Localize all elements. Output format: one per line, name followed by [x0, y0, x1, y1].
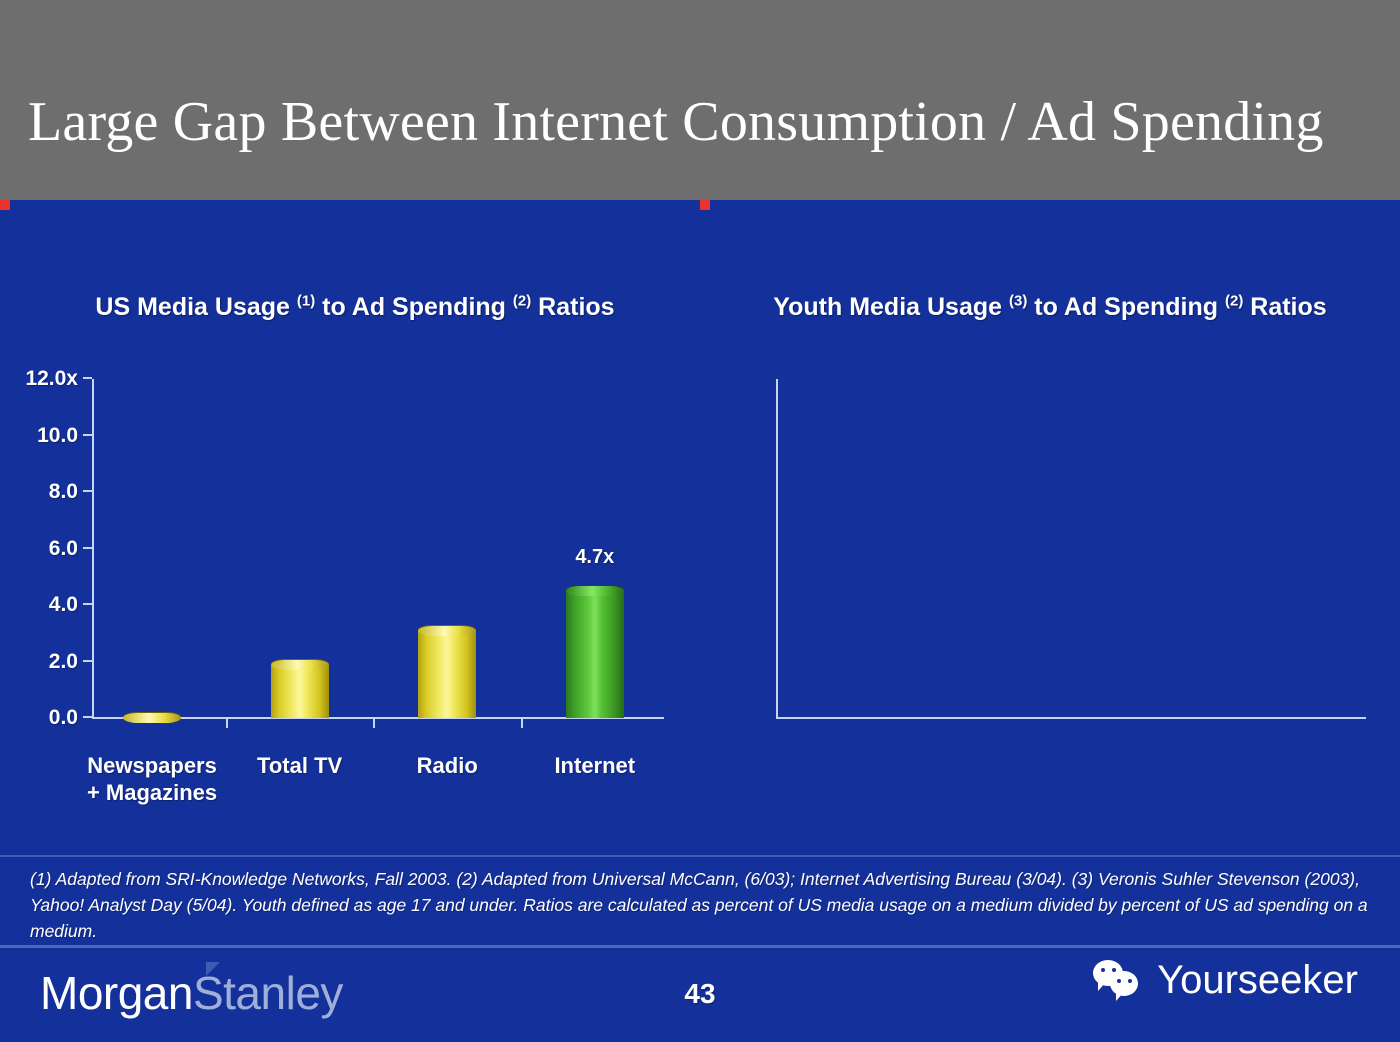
chart-title-youth-media-usage: Youth Media Usage (3) to Ad Spending (2)…	[700, 288, 1400, 326]
bar-top-ellipse	[123, 712, 181, 723]
bubble-front	[1110, 971, 1138, 996]
chart-title-text: Youth Media Usage	[773, 293, 1009, 321]
y-axis-line	[92, 379, 94, 718]
chart-panel-youth-media-usage: Youth Media Usage (3) to Ad Spending (2)…	[700, 200, 1400, 820]
bar-value-label: 4.7x	[575, 546, 614, 569]
footnote-ref-3: (3)	[1009, 293, 1027, 310]
chart-title-text: Ratios	[1243, 293, 1326, 321]
label-line: Total TV	[257, 752, 342, 779]
bar-body	[566, 590, 624, 718]
x-axis-category-label: Total TV	[257, 752, 342, 779]
y-axis-tick	[83, 377, 92, 379]
y-axis-tick	[83, 660, 92, 662]
bar-top-ellipse	[271, 659, 329, 670]
footnote-ref-1: (1)	[297, 293, 315, 310]
bar-internet	[566, 585, 624, 718]
y-axis-tick	[83, 547, 92, 549]
chart-panel-us-media-usage: US Media Usage (1) to Ad Spending (2) Ra…	[0, 200, 700, 820]
y-axis-tick	[83, 603, 92, 605]
bar-total-tv	[271, 659, 329, 718]
slide: Large Gap Between Internet Consumption /…	[0, 0, 1400, 1042]
chart-title-text: US Media Usage	[95, 293, 296, 321]
label-line: Internet	[554, 752, 635, 779]
y-axis-tick-label: 4.0	[49, 593, 78, 617]
x-axis-category-label: Internet	[554, 752, 635, 779]
bar-top-ellipse	[566, 585, 624, 596]
footnote-ref-2: (2)	[1225, 293, 1243, 310]
label-line: + Magazines	[87, 779, 217, 806]
x-axis-category-label: Radio	[417, 752, 478, 779]
watermark: Yourseeker	[1093, 958, 1358, 1002]
bubble-back-tail	[1098, 982, 1106, 991]
slide-footer: MorganStanley 43 Yourseeker	[0, 948, 1400, 1042]
y-axis-tick-label: 6.0	[49, 537, 78, 561]
bar-radio	[418, 625, 476, 718]
bar-top-ellipse	[418, 625, 476, 636]
bubble-front-tail	[1116, 992, 1124, 1001]
y-axis-tick-label: 0.0	[49, 706, 78, 730]
footnote-text: (1) Adapted from SRI-Knowledge Networks,…	[30, 866, 1370, 944]
plot-area-youth-media-usage	[776, 379, 1366, 718]
y-axis-tick-label: 8.0	[49, 480, 78, 504]
x-axis-tick	[521, 718, 523, 728]
label-line: Radio	[417, 752, 478, 779]
header-band: Large Gap Between Internet Consumption /…	[0, 0, 1400, 200]
footnote-ref-2: (2)	[513, 293, 531, 310]
wechat-icon	[1093, 960, 1145, 1000]
chart-title-text: Ratios	[531, 293, 614, 321]
chart-title-us-media-usage: US Media Usage (1) to Ad Spending (2) Ra…	[0, 288, 700, 326]
bar-body	[418, 630, 476, 718]
y-axis-tick-label: 10.0	[37, 424, 78, 448]
label-line: Newspapers	[87, 752, 217, 779]
divider-above-footnote	[0, 855, 1400, 857]
highlight-box-internet	[700, 200, 710, 210]
y-axis-tick	[83, 434, 92, 436]
chart-title-text: to Ad Spending	[1027, 293, 1225, 321]
x-axis-tick	[373, 718, 375, 728]
y-axis-tick	[83, 716, 92, 718]
bar-body	[271, 664, 329, 718]
plot-area-us-media-usage: 0.02.04.06.08.010.012.0x4.7x	[92, 379, 664, 718]
chart-title-text: to Ad Spending	[315, 293, 513, 321]
bar-newspapers-magazines	[123, 712, 181, 718]
y-axis-tick-label: 12.0x	[25, 367, 78, 391]
watermark-text: Yourseeker	[1157, 958, 1358, 1002]
highlight-box-internet	[0, 200, 10, 210]
slide-body: US Media Usage (1) to Ad Spending (2) Ra…	[0, 200, 1400, 1042]
x-axis-line	[776, 717, 1366, 719]
x-axis-category-label: Newspapers+ Magazines	[87, 752, 217, 806]
y-axis-tick-label: 2.0	[49, 650, 78, 674]
x-axis-tick	[226, 718, 228, 728]
triangle-accent-icon	[206, 962, 220, 976]
y-axis-line	[776, 379, 778, 718]
page-title: Large Gap Between Internet Consumption /…	[28, 90, 1378, 154]
y-axis-tick	[83, 490, 92, 492]
